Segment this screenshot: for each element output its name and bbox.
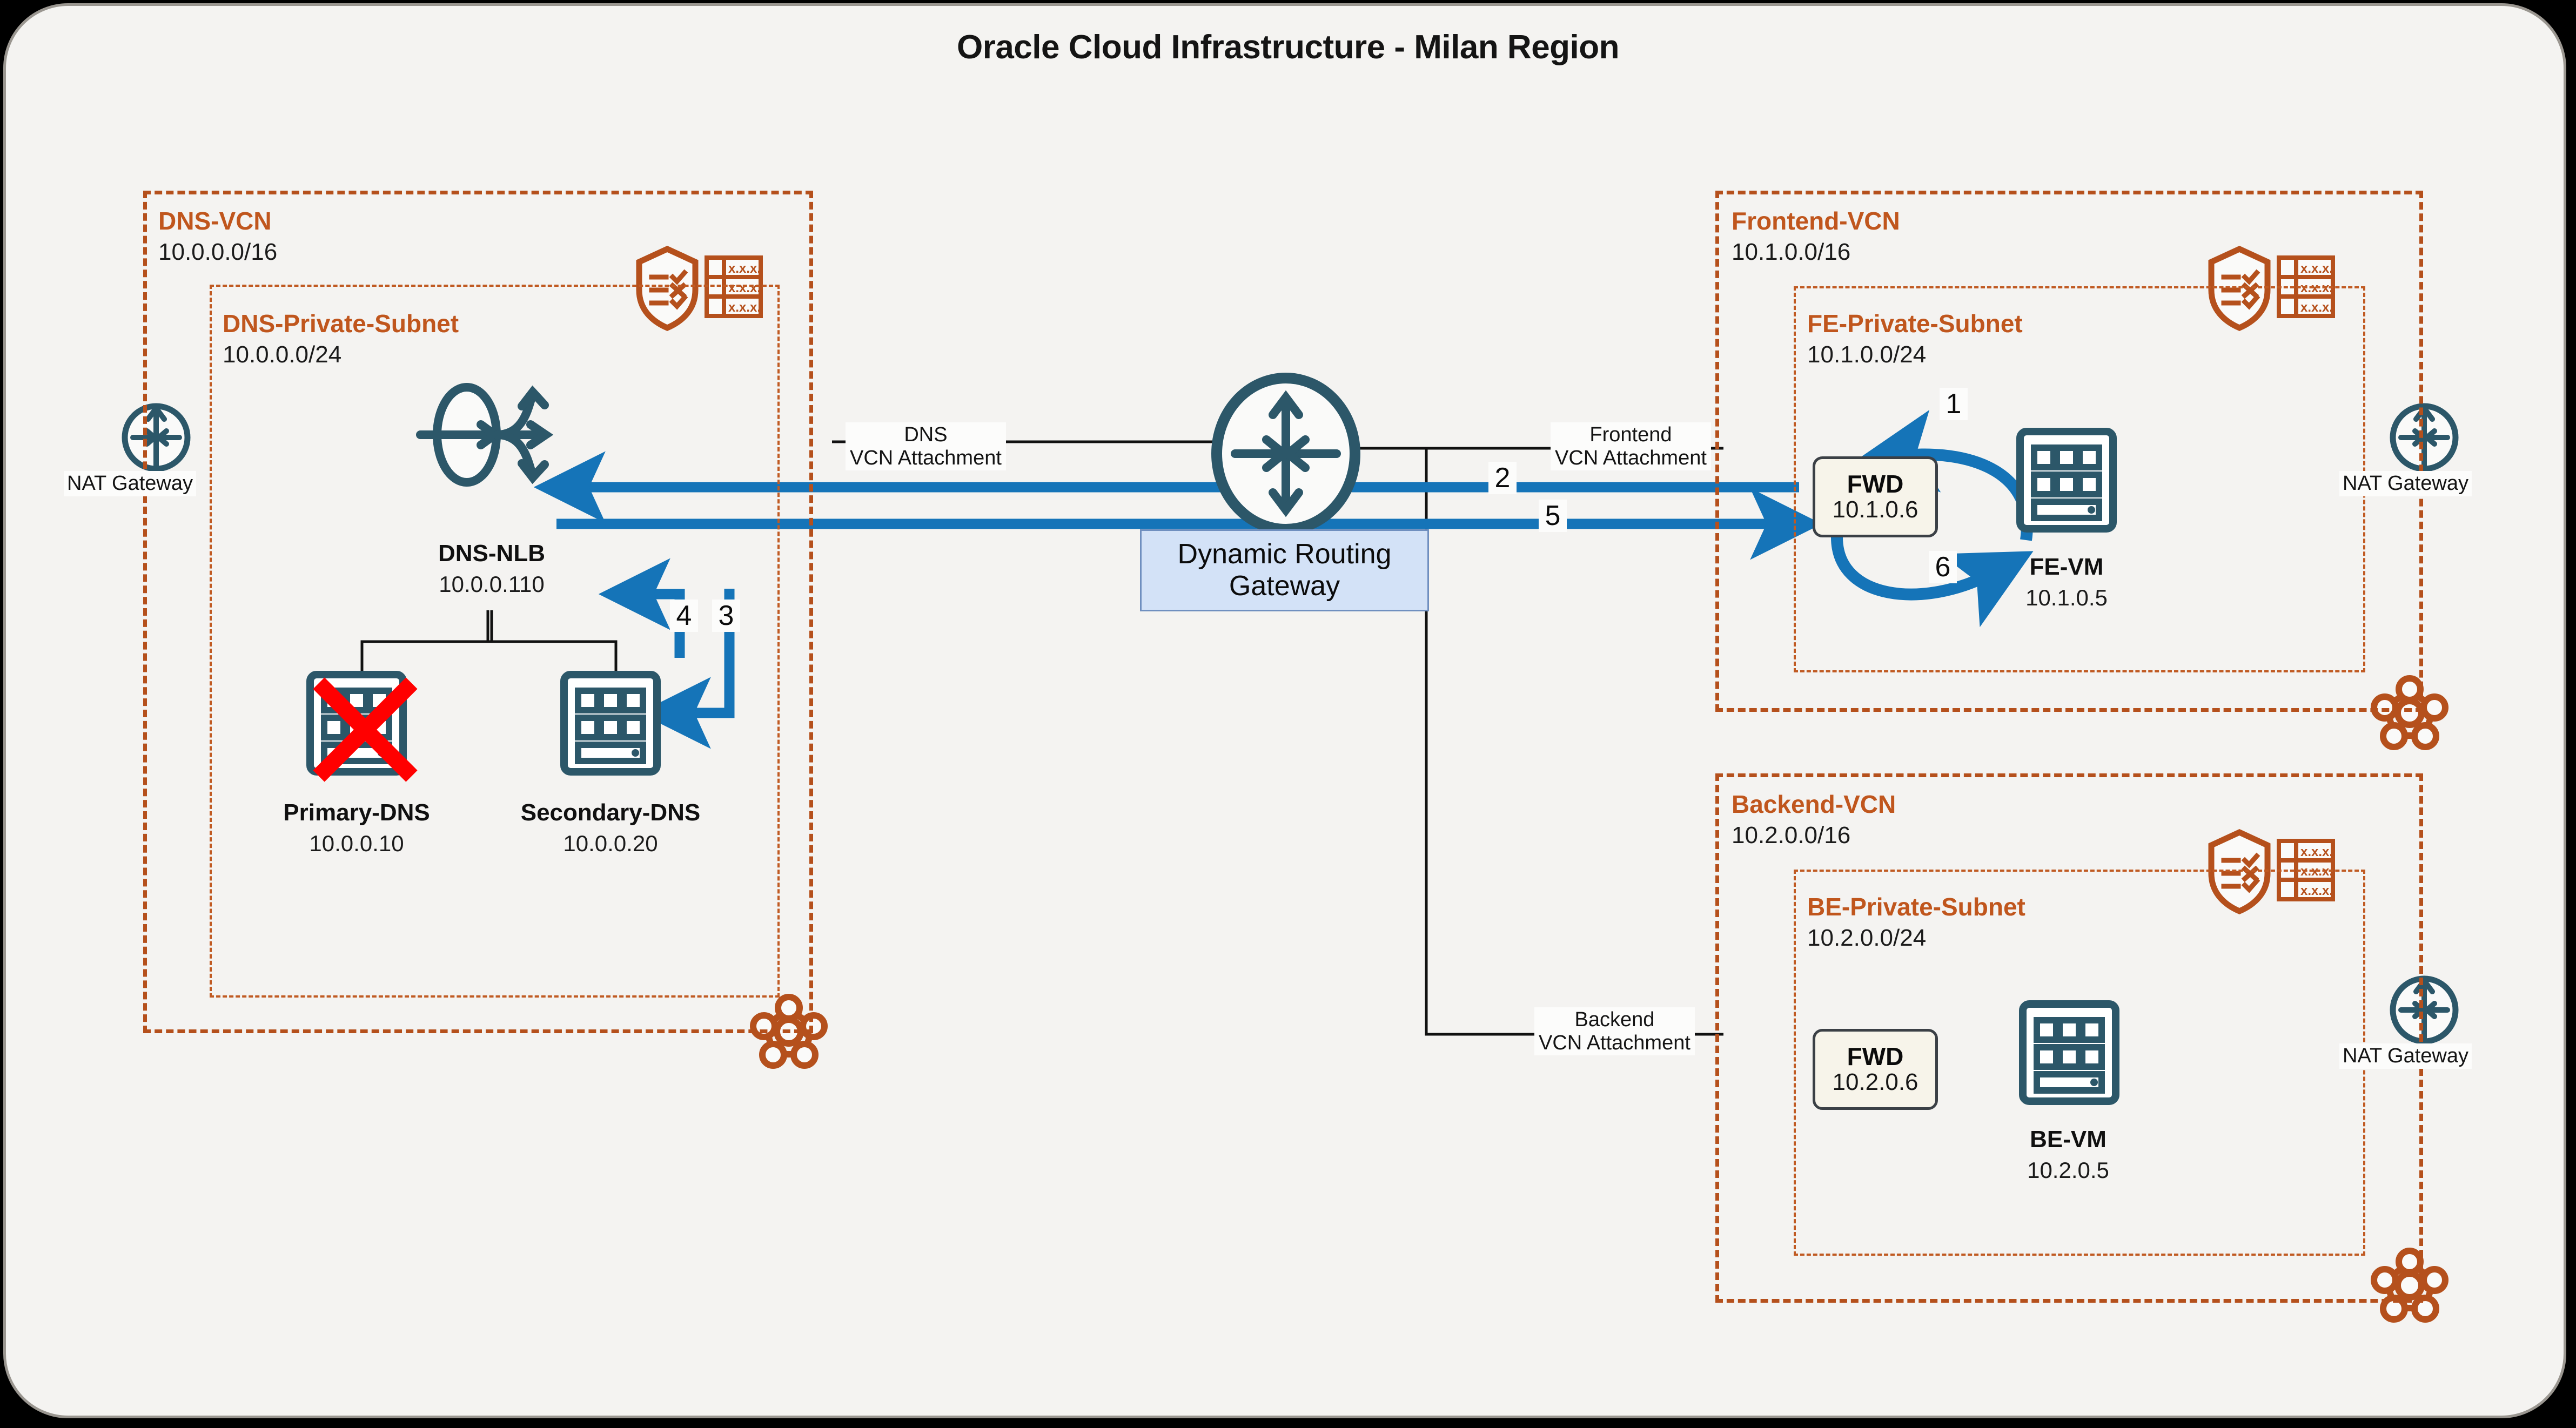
node-primary-dns-label: Primary-DNS <box>243 799 470 826</box>
drg-label-line1: Dynamic Routing <box>1178 538 1392 570</box>
gateway-label-be-nat: NAT Gateway <box>2339 1043 2472 1069</box>
attachment-label-dns-line2: VCN Attachment <box>850 447 1002 470</box>
subnet-dns-private-subnet-cidr: 10.0.0.0/24 <box>223 341 341 368</box>
node-fe-fwd[interactable]: FWD 10.1.0.6 <box>1813 456 1938 537</box>
vcn-dns-vcn-cidr: 10.0.0.0/16 <box>158 239 277 266</box>
subnet-be-private-subnet-name: BE-Private-Subnet <box>1807 892 2025 921</box>
attachment-label-frontend-line2: VCN Attachment <box>1555 447 1707 470</box>
node-fe-fwd-ip: 10.1.0.6 <box>1832 497 1918 523</box>
page-title: Oracle Cloud Infrastructure - Milan Regi… <box>0 28 2576 66</box>
attachment-label-backend: Backend VCN Attachment <box>1534 1007 1695 1055</box>
subnet-dns-private-subnet-name: DNS-Private-Subnet <box>223 309 459 338</box>
flow-step-label-3: 3 <box>712 600 740 632</box>
vcn-dns-vcn-name: DNS-VCN <box>158 206 272 235</box>
diagram-canvas: Oracle Cloud Infrastructure - Milan Regi… <box>0 0 2576 1428</box>
subnet-dns-private-subnet[interactable] <box>210 285 780 998</box>
attachment-label-frontend-line1: Frontend <box>1555 423 1707 447</box>
subnet-be-private-subnet-cidr: 10.2.0.0/24 <box>1807 925 1926 952</box>
node-be-fwd[interactable]: FWD 10.2.0.6 <box>1813 1029 1938 1110</box>
gateway-label-dns-nat: NAT Gateway <box>64 471 196 496</box>
attachment-label-backend-line2: VCN Attachment <box>1539 1032 1691 1055</box>
node-secondary-dns-ip: 10.0.0.20 <box>497 831 724 857</box>
flow-step-label-1: 1 <box>1940 388 1968 420</box>
attachment-label-frontend: Frontend VCN Attachment <box>1551 422 1711 470</box>
drg-label-line2: Gateway <box>1178 570 1392 602</box>
flow-step-label-5: 5 <box>1539 500 1567 532</box>
node-dns-nlb-label: DNS-NLB <box>378 540 605 567</box>
node-fe-vm-label: FE-VM <box>1953 554 2180 581</box>
node-be-fwd-label: FWD <box>1847 1043 1904 1069</box>
attachment-label-backend-line1: Backend <box>1539 1008 1691 1032</box>
drg-label-box[interactable]: Dynamic Routing Gateway <box>1140 529 1429 611</box>
subnet-fe-private-subnet-name: FE-Private-Subnet <box>1807 309 2023 338</box>
vcn-backend-vcn-cidr: 10.2.0.0/16 <box>1732 822 1850 849</box>
node-primary-dns-ip: 10.0.0.10 <box>243 831 470 857</box>
node-fe-vm-ip: 10.1.0.5 <box>1953 585 2180 611</box>
vcn-backend-vcn-name: Backend-VCN <box>1732 790 1896 819</box>
flow-step-label-4: 4 <box>670 600 698 632</box>
attachment-label-dns: DNS VCN Attachment <box>846 422 1006 470</box>
node-dns-nlb-ip: 10.0.0.110 <box>378 571 605 597</box>
flow-step-label-6: 6 <box>1929 551 1957 583</box>
vcn-frontend-vcn-name: Frontend-VCN <box>1732 206 1900 235</box>
subnet-fe-private-subnet-cidr: 10.1.0.0/24 <box>1807 341 1926 368</box>
node-fe-fwd-label: FWD <box>1847 471 1904 497</box>
node-be-vm-label: BE-VM <box>1955 1126 2182 1153</box>
attachment-label-dns-line1: DNS <box>850 423 1002 447</box>
node-secondary-dns-label: Secondary-DNS <box>497 799 724 826</box>
node-be-fwd-ip: 10.2.0.6 <box>1832 1069 1918 1095</box>
vcn-frontend-vcn-cidr: 10.1.0.0/16 <box>1732 239 1850 266</box>
node-be-vm-ip: 10.2.0.5 <box>1955 1157 2182 1183</box>
flow-step-label-2: 2 <box>1488 462 1517 494</box>
gateway-label-fe-nat: NAT Gateway <box>2339 471 2472 496</box>
